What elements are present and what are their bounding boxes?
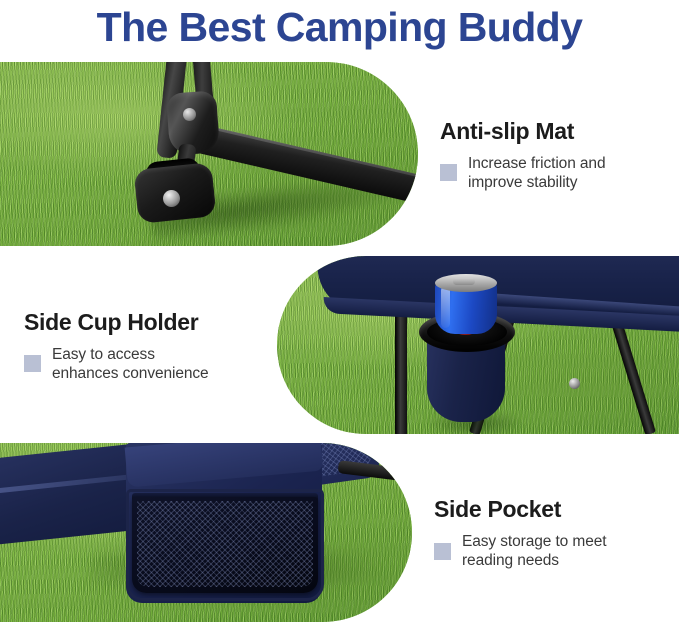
feature-image-anti-slip-mat	[0, 62, 418, 246]
square-bullet-icon	[434, 543, 451, 560]
cross-leg-hinge	[569, 378, 580, 389]
feature-description: Easy storage to meet reading needs	[462, 532, 606, 570]
soda-can-highlight	[441, 286, 450, 328]
joint-rivet-upper	[183, 108, 196, 121]
feature-body-row: Easy to access enhances convenience	[24, 345, 269, 383]
square-bullet-icon	[24, 355, 41, 372]
feature-row-side-cup-holder: Side Cup Holder Easy to access enhances …	[0, 256, 679, 434]
feature-text-side-pocket: Side Pocket Easy storage to meet reading…	[412, 443, 679, 622]
feature-text-side-cup-holder: Side Cup Holder Easy to access enhances …	[0, 256, 277, 434]
feature-image-side-cup-holder	[277, 256, 679, 434]
square-bullet-icon	[440, 164, 457, 181]
feature-title: Side Pocket	[434, 495, 679, 523]
feature-body-row: Easy storage to meet reading needs	[434, 532, 679, 570]
frame-bar-end-cap	[400, 473, 412, 485]
feature-row-side-pocket: Side Pocket Easy storage to meet reading…	[0, 443, 679, 622]
feature-image-side-pocket	[0, 443, 412, 622]
feature-description: Increase friction and improve stability	[468, 154, 605, 192]
feature-text-anti-slip-mat: Anti-slip Mat Increase friction and impr…	[418, 62, 679, 246]
feature-description: Easy to access enhances convenience	[52, 345, 209, 383]
foot-rivet	[163, 190, 180, 207]
page-title: The Best Camping Buddy	[0, 2, 679, 52]
feature-title: Anti-slip Mat	[440, 117, 679, 145]
feature-body-row: Increase friction and improve stability	[440, 154, 679, 192]
feature-title: Side Cup Holder	[24, 308, 269, 336]
pocket-stitched-edge	[126, 489, 324, 601]
feature-row-anti-slip-mat: Anti-slip Mat Increase friction and impr…	[0, 62, 679, 246]
soda-can-tab	[453, 278, 475, 285]
